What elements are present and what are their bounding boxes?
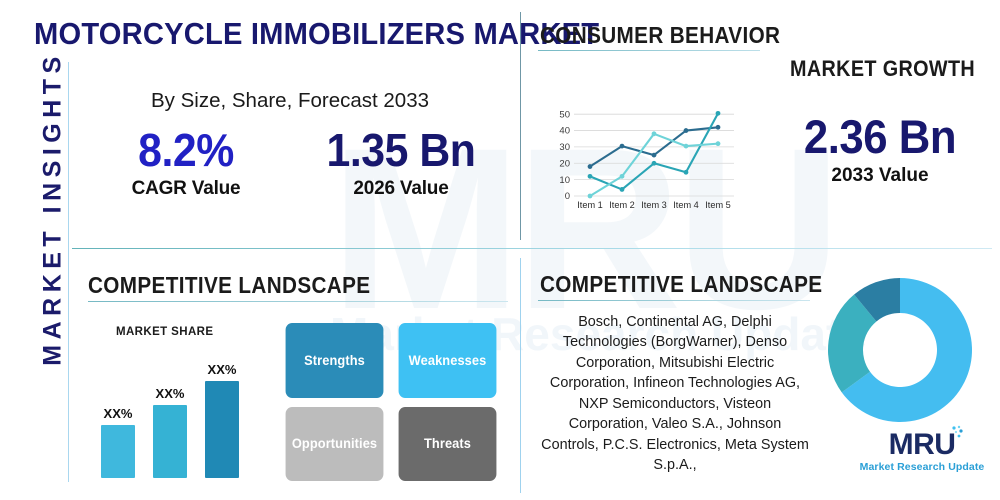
svg-text:30: 30: [559, 142, 570, 153]
market-share-bar-label: XX%: [92, 406, 144, 421]
section-title-competitive-landscape-right: COMPETITIVE LANDSCAPE: [540, 271, 822, 298]
market-share-donut-chart: [826, 276, 974, 424]
market-share-bar-label: XX%: [196, 362, 248, 377]
divider-vertical-left: [68, 62, 69, 482]
divider-vertical-bottom: [520, 258, 521, 493]
swot-box-threats[interactable]: Threats: [399, 407, 497, 482]
section-title-consumer-behavior: CONSUMER BEHAVIOR: [540, 22, 780, 49]
stat-forecast-year-caption: 2033 Value: [772, 165, 988, 187]
stat-cagr: 8.2% CAGR Value: [86, 126, 286, 200]
svg-text:Item 3: Item 3: [641, 200, 667, 210]
competitor-list: Bosch, Continental AG, Delphi Technologi…: [540, 312, 810, 476]
market-share-bar: XX%: [101, 425, 135, 478]
stat-forecast-year-value: 2.36 Bn: [780, 112, 981, 161]
swot-grid: StrengthsWeaknessesOpportunitiesThreats: [283, 323, 499, 481]
svg-text:40: 40: [559, 126, 570, 137]
svg-text:Item 2: Item 2: [609, 200, 635, 210]
swot-box-weaknesses[interactable]: Weaknesses: [399, 323, 497, 398]
market-share-bar-chart: XX%XX%XX%: [95, 336, 265, 478]
svg-text:0: 0: [565, 191, 570, 202]
section-rule-competitive-landscape-left: [88, 301, 508, 302]
svg-text:Item 1: Item 1: [577, 200, 603, 210]
swot-box-label: Weaknesses: [409, 353, 487, 368]
swot-box-strengths[interactable]: Strengths: [286, 323, 384, 398]
logo-mark: MRU: [889, 428, 956, 461]
swot-box-opportunities[interactable]: Opportunities: [286, 407, 384, 482]
infographic-canvas: MRU Market Research Update MARKET INSIGH…: [0, 0, 1000, 500]
section-title-competitive-landscape-left: COMPETITIVE LANDSCAPE: [88, 272, 370, 299]
brand-logo: MRU Market Research Update: [856, 430, 988, 473]
svg-text:Item 4: Item 4: [673, 200, 699, 210]
stat-base-year: 1.35 Bn 2026 Value: [296, 126, 506, 200]
stat-base-year-caption: 2026 Value: [296, 178, 506, 200]
stat-base-year-value: 1.35 Bn: [303, 126, 498, 174]
section-rule-competitive-landscape-right: [538, 300, 810, 301]
market-share-bar-fill: [101, 425, 135, 478]
logo-mark-text: MRU: [889, 430, 956, 460]
svg-text:50: 50: [559, 109, 570, 120]
consumer-behavior-line-chart: 01020304050 Item 1Item 2Item 3Item 4Item…: [548, 100, 738, 218]
svg-text:Item 5: Item 5: [705, 200, 731, 210]
page-title: MOTORCYCLE IMMOBILIZERS MARKET: [34, 16, 483, 52]
swot-box-label: Strengths: [304, 353, 365, 368]
stat-cagr-value: 8.2%: [93, 126, 279, 174]
section-title-market-growth: MARKET GROWTH: [790, 56, 970, 82]
swot-box-label: Threats: [424, 436, 471, 451]
market-share-bar-fill: [153, 405, 187, 478]
svg-text:10: 10: [559, 175, 570, 186]
market-share-bar: XX%: [205, 381, 239, 478]
stat-forecast-year: 2.36 Bn 2033 Value: [772, 112, 988, 187]
svg-text:20: 20: [559, 158, 570, 169]
section-rule-consumer-behavior: [538, 50, 760, 51]
market-share-bar-label: XX%: [144, 386, 196, 401]
swot-box-label: Opportunities: [292, 436, 377, 451]
stat-cagr-caption: CAGR Value: [86, 178, 286, 200]
market-share-bar-fill: [205, 381, 239, 478]
logo-sparkle-icon: [950, 425, 964, 441]
page-subtitle: By Size, Share, Forecast 2033: [84, 89, 496, 113]
market-share-bar: XX%: [153, 405, 187, 478]
sidebar-title: MARKET INSIGHTS: [39, 44, 68, 374]
divider-horizontal: [72, 248, 992, 249]
logo-tagline: Market Research Update: [856, 461, 988, 473]
